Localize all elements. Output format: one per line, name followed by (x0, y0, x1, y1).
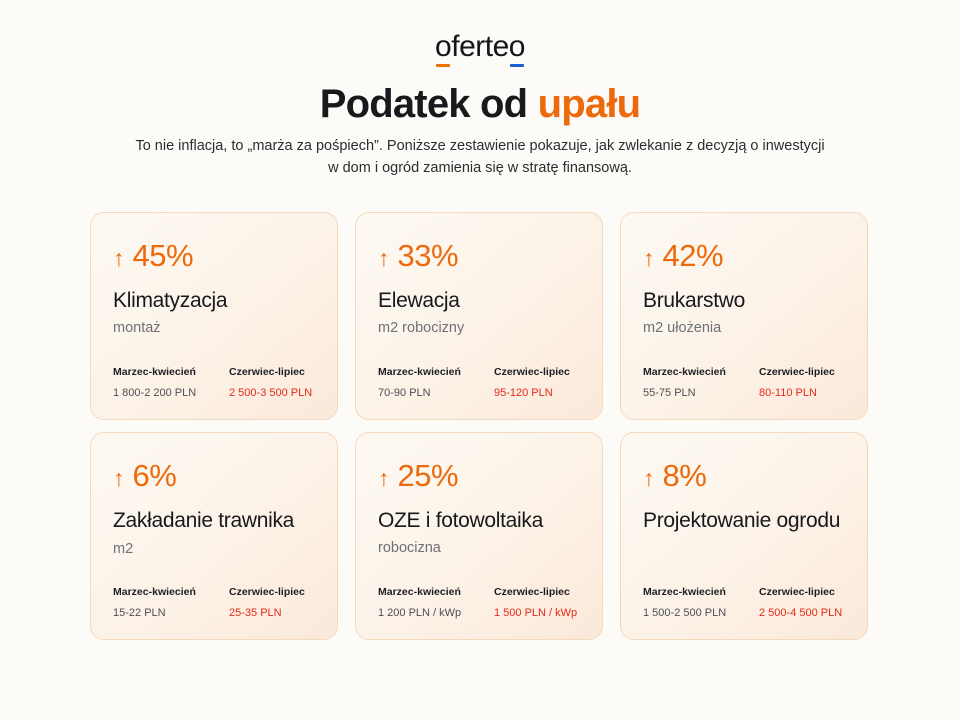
period-after: Czerwiec-lipiec 1 500 PLN / kWp (494, 585, 594, 621)
percent-value: 42% (663, 239, 724, 272)
period-comparison: Marzec-kwiecień 1 800-2 200 PLN Czerwiec… (113, 365, 315, 401)
period-comparison: Marzec-kwiecień 1 200 PLN / kWp Czerwiec… (378, 585, 580, 621)
increase-stat: ↑ 33% (378, 239, 580, 272)
service-unit: m2 ułożenia (643, 318, 845, 338)
service-unit-inline: m2 (113, 541, 133, 557)
arrow-up-icon: ↑ (643, 467, 655, 490)
infographic-page: oferteo Podatek od upału To nie inflacja… (0, 0, 960, 720)
percent-value: 8% (663, 459, 707, 492)
service-unit: montaż (113, 318, 315, 338)
period-after-value: 1 500 PLN / kWp (494, 606, 594, 621)
period-before-label: Marzec-kwiecień (643, 585, 749, 599)
service-title-text: Zakładanie trawnika (113, 509, 294, 532)
logo-char-f: f (451, 30, 459, 64)
arrow-up-icon: ↑ (378, 247, 390, 270)
service-title: Brukarstwo (643, 288, 845, 314)
service-title: Zakładanie trawnika m2 (113, 508, 315, 562)
period-before-value: 1 800-2 200 PLN (113, 386, 219, 401)
increase-stat: ↑ 6% (113, 459, 315, 492)
page-subtitle-line1: To nie inflacja, to „marża za pośpiech”.… (135, 138, 681, 154)
period-after-label: Czerwiec-lipiec (759, 365, 859, 379)
period-comparison: Marzec-kwiecień 55-75 PLN Czerwiec-lipie… (643, 365, 845, 401)
page-subtitle: To nie inflacja, to „marża za pośpiech”.… (130, 135, 830, 179)
page-title-accent: upału (538, 82, 641, 126)
period-after: Czerwiec-lipiec 2 500-3 500 PLN (229, 365, 329, 401)
period-after: Czerwiec-lipiec 80-110 PLN (759, 365, 859, 401)
arrow-up-icon: ↑ (643, 247, 655, 270)
price-card-grid: ↑ 45% Klimatyzacja montaż Marzec-kwiecie… (90, 212, 870, 640)
period-before: Marzec-kwiecień 15-22 PLN (113, 585, 219, 621)
increase-stat: ↑ 25% (378, 459, 580, 492)
period-before-label: Marzec-kwiecień (378, 585, 484, 599)
price-card: ↑ 25% OZE i fotowoltaika robocizna Marze… (355, 432, 603, 640)
period-before-label: Marzec-kwiecień (113, 365, 219, 379)
period-before: Marzec-kwiecień 55-75 PLN (643, 365, 749, 401)
page-title-main: Podatek od (320, 82, 538, 126)
period-before-value: 1 200 PLN / kWp (378, 606, 484, 621)
period-before-label: Marzec-kwiecień (113, 585, 219, 599)
period-after: Czerwiec-lipiec 95-120 PLN (494, 365, 594, 401)
period-before-value: 15-22 PLN (113, 606, 219, 621)
logo-char-o-last: o (509, 30, 525, 64)
service-title: Elewacja (378, 288, 580, 314)
service-title-text: Brukarstwo (643, 289, 745, 312)
period-after-label: Czerwiec-lipiec (494, 365, 594, 379)
period-after-value: 95-120 PLN (494, 386, 594, 401)
arrow-up-icon: ↑ (113, 467, 125, 490)
period-comparison: Marzec-kwiecień 15-22 PLN Czerwiec-lipie… (113, 585, 315, 621)
service-title: Projektowanie ogrodu (643, 508, 845, 534)
logo-char-r: r (475, 30, 485, 64)
period-before: Marzec-kwiecień 1 800-2 200 PLN (113, 365, 219, 401)
service-title-text: Elewacja (378, 289, 460, 312)
period-comparison: Marzec-kwiecień 70-90 PLN Czerwiec-lipie… (378, 365, 580, 401)
service-title-text: Klimatyzacja (113, 289, 227, 312)
service-title-text: Projektowanie ogrodu (643, 509, 840, 532)
period-after: Czerwiec-lipiec 2 500-4 500 PLN (759, 585, 859, 621)
period-after-label: Czerwiec-lipiec (759, 585, 859, 599)
period-before-value: 70-90 PLN (378, 386, 484, 401)
logo-char-e-second: e (493, 30, 509, 64)
period-comparison: Marzec-kwiecień 1 500-2 500 PLN Czerwiec… (643, 585, 845, 621)
logo-text: oferteo (435, 30, 525, 64)
period-before-label: Marzec-kwiecień (378, 365, 484, 379)
page-title: Podatek od upału (0, 80, 960, 128)
percent-value: 6% (133, 459, 177, 492)
price-card: ↑ 42% Brukarstwo m2 ułożenia Marzec-kwie… (620, 212, 868, 420)
increase-stat: ↑ 8% (643, 459, 845, 492)
period-after-value: 2 500-3 500 PLN (229, 386, 329, 401)
price-card: ↑ 8% Projektowanie ogrodu Marzec-kwiecie… (620, 432, 868, 640)
period-after-label: Czerwiec-lipiec (229, 585, 329, 599)
price-card: ↑ 45% Klimatyzacja montaż Marzec-kwiecie… (90, 212, 338, 420)
period-after-value: 80-110 PLN (759, 386, 859, 401)
period-after-value: 25-35 PLN (229, 606, 329, 621)
service-unit: m2 robocizny (378, 318, 580, 338)
period-before-value: 1 500-2 500 PLN (643, 606, 749, 621)
period-before: Marzec-kwiecień 70-90 PLN (378, 365, 484, 401)
period-before-value: 55-75 PLN (643, 386, 749, 401)
period-after-value: 2 500-4 500 PLN (759, 606, 859, 621)
increase-stat: ↑ 42% (643, 239, 845, 272)
price-card: ↑ 6% Zakładanie trawnika m2 Marzec-kwiec… (90, 432, 338, 640)
arrow-up-icon: ↑ (113, 247, 125, 270)
period-before: Marzec-kwiecień 1 500-2 500 PLN (643, 585, 749, 621)
period-after-label: Czerwiec-lipiec (494, 585, 594, 599)
service-title: OZE i fotowoltaika (378, 508, 580, 534)
period-after-label: Czerwiec-lipiec (229, 365, 329, 379)
percent-value: 45% (133, 239, 194, 272)
price-card: ↑ 33% Elewacja m2 robocizny Marzec-kwiec… (355, 212, 603, 420)
brand-logo: oferteo (0, 30, 960, 64)
period-before-label: Marzec-kwiecień (643, 365, 749, 379)
service-unit: robocizna (378, 538, 580, 558)
percent-value: 33% (398, 239, 459, 272)
arrow-up-icon: ↑ (378, 467, 390, 490)
period-before: Marzec-kwiecień 1 200 PLN / kWp (378, 585, 484, 621)
service-title-text: OZE i fotowoltaika (378, 509, 543, 532)
logo-char-e: e (459, 30, 475, 64)
logo-char-o-first: o (435, 30, 451, 64)
percent-value: 25% (398, 459, 459, 492)
service-title: Klimatyzacja (113, 288, 315, 314)
period-after: Czerwiec-lipiec 25-35 PLN (229, 585, 329, 621)
logo-char-t: t (485, 30, 493, 64)
increase-stat: ↑ 45% (113, 239, 315, 272)
